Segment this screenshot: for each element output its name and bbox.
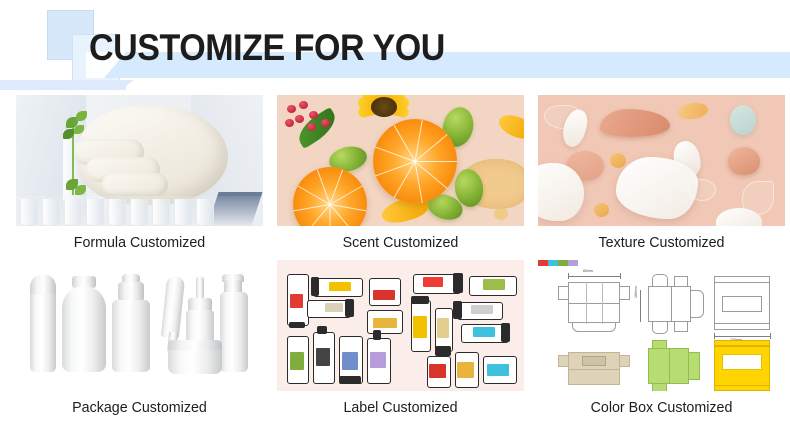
grid-cell-color-box[interactable]: 80mm 160mm (538, 260, 785, 425)
printed-dieline-green (669, 348, 689, 384)
vial (130, 199, 148, 226)
dieline-flap (674, 276, 688, 287)
berry (285, 119, 294, 127)
printed-flap (619, 355, 630, 367)
printed-tuck (688, 352, 700, 380)
spray-head (373, 330, 381, 340)
dieline-fold (602, 282, 603, 324)
label-swatch (429, 364, 446, 378)
dimension-tick (568, 273, 569, 279)
tube-cap (453, 301, 462, 319)
label-swatch (457, 362, 474, 378)
label-swatch (487, 364, 509, 376)
caption-formula: Formula Customized (22, 226, 257, 260)
vial (174, 199, 192, 226)
berry (299, 101, 308, 109)
printed-window (722, 354, 762, 370)
white-cream-blob-large (616, 157, 698, 219)
vial (152, 199, 170, 226)
caption-label: Label Customized (283, 391, 518, 425)
pink-cream-swipe (600, 109, 670, 137)
label-swatch (483, 279, 505, 290)
label-swatch (290, 294, 303, 308)
dropper-bulb (196, 276, 204, 300)
orange-slice (293, 167, 367, 226)
tube-cap (411, 296, 429, 304)
grid-cell-package[interactable]: Package Customized (16, 260, 263, 425)
page-header: CUSTOMIZE FOR YOU (0, 0, 790, 95)
tube-cap (453, 273, 463, 293)
label-swatch (413, 316, 427, 338)
header-lower-band (0, 80, 126, 90)
dieline-flap (714, 276, 770, 283)
label-swatch (325, 303, 343, 312)
label-swatch (373, 318, 397, 328)
orange-slice (373, 119, 457, 203)
spray-bottle (220, 292, 248, 372)
yellow-cream-arc (677, 101, 709, 121)
page-title: CUSTOMIZE FOR YOU (89, 26, 445, 70)
vial (196, 199, 214, 226)
dimension-label-width: 80mm (583, 269, 593, 273)
printed-flap (652, 340, 667, 349)
caption-color-box: Color Box Customized (544, 391, 779, 425)
pump-collar (118, 282, 144, 302)
dieline-flap (714, 323, 770, 330)
label-swatch (373, 290, 395, 300)
yellow-cream-dot (610, 153, 626, 168)
dieline-panel (671, 286, 691, 322)
cream-jar (168, 350, 222, 374)
dieline-flap (619, 286, 630, 300)
tube-cap (289, 322, 305, 328)
printed-color-bar (538, 260, 578, 266)
printed-dieline-green (648, 348, 670, 384)
vial (86, 199, 104, 226)
bottle-cap (30, 274, 56, 296)
vial (64, 199, 82, 226)
dieline-flap (652, 321, 668, 334)
dieline-tuck (690, 290, 704, 318)
honey-drop (494, 208, 508, 220)
grid-cell-scent[interactable]: Scent Customized (277, 95, 524, 260)
dimension-line (640, 290, 641, 322)
dieline-tuck (572, 322, 616, 332)
printed-flap (714, 340, 770, 346)
scent-customized-image[interactable] (277, 95, 524, 226)
yellow-petal (496, 111, 524, 144)
gel-smear (688, 179, 716, 201)
pump-bottle (112, 300, 150, 372)
grid-cell-label[interactable]: Label Customized (277, 260, 524, 425)
label-swatch (471, 305, 493, 314)
grid-row: Formula Customized (0, 95, 790, 260)
dimension-line (714, 336, 770, 337)
label-swatch (316, 348, 330, 366)
vial (108, 199, 126, 226)
dimension-line (568, 276, 620, 277)
customization-grid: Formula Customized (0, 95, 790, 425)
dieline-flap (674, 321, 688, 332)
lotion-bottle (62, 286, 106, 372)
package-customized-image[interactable] (16, 260, 263, 391)
printed-flap (652, 383, 667, 391)
blue-cream-dome (730, 105, 756, 135)
dieline-flap (652, 274, 668, 287)
tube-cap (501, 323, 510, 342)
vial-rack (16, 196, 263, 226)
formula-customized-image[interactable] (16, 95, 263, 226)
berry (287, 105, 296, 113)
label-swatch (290, 352, 304, 370)
dimension-tick (620, 273, 621, 279)
caption-texture: Texture Customized (544, 226, 779, 260)
grid-cell-formula[interactable]: Formula Customized (16, 95, 263, 260)
label-swatch (342, 352, 358, 370)
printed-flap (558, 355, 569, 367)
tube-cap (345, 299, 354, 317)
berry (295, 115, 304, 123)
berry (321, 119, 330, 127)
texture-customized-image[interactable] (538, 95, 785, 226)
grid-row: Package Customized (0, 260, 790, 425)
label-swatch (473, 327, 495, 337)
caption-package: Package Customized (22, 391, 257, 425)
berry (307, 123, 316, 131)
squeeze-tube (161, 275, 185, 339)
dimension-tick (714, 333, 715, 339)
dieline-flap (558, 286, 569, 300)
label-swatch (370, 352, 386, 368)
label-swatch (329, 282, 351, 291)
sunflower-center (371, 97, 397, 117)
tube-cap (339, 376, 361, 384)
yellow-cream-dot (594, 203, 609, 217)
vial (42, 199, 60, 226)
tube-cap (435, 346, 451, 356)
printed-window (582, 356, 606, 366)
rose-gold-dome (728, 147, 760, 175)
berry (309, 111, 318, 119)
dieline-window (722, 296, 762, 312)
glove-finger (102, 173, 168, 196)
caption-scent: Scent Customized (283, 226, 518, 260)
label-swatch (423, 277, 443, 287)
tube-cap (311, 277, 319, 296)
dimension-tick (770, 333, 771, 339)
color-box-customized-image[interactable]: 80mm 160mm (538, 260, 785, 391)
label-swatch (437, 318, 449, 338)
dieline-panel (568, 282, 620, 304)
dimension-label-height: 160mm (634, 286, 638, 298)
grid-cell-texture[interactable]: Texture Customized (538, 95, 785, 260)
vial (20, 199, 38, 226)
label-customized-image[interactable] (277, 260, 524, 391)
dieline-panel (568, 303, 620, 323)
printed-dieline-kraft (568, 369, 620, 385)
pump-head (317, 326, 327, 334)
dieline-fold (586, 282, 587, 324)
dieline-panel (648, 286, 672, 322)
roll-on-bottle (30, 294, 56, 372)
